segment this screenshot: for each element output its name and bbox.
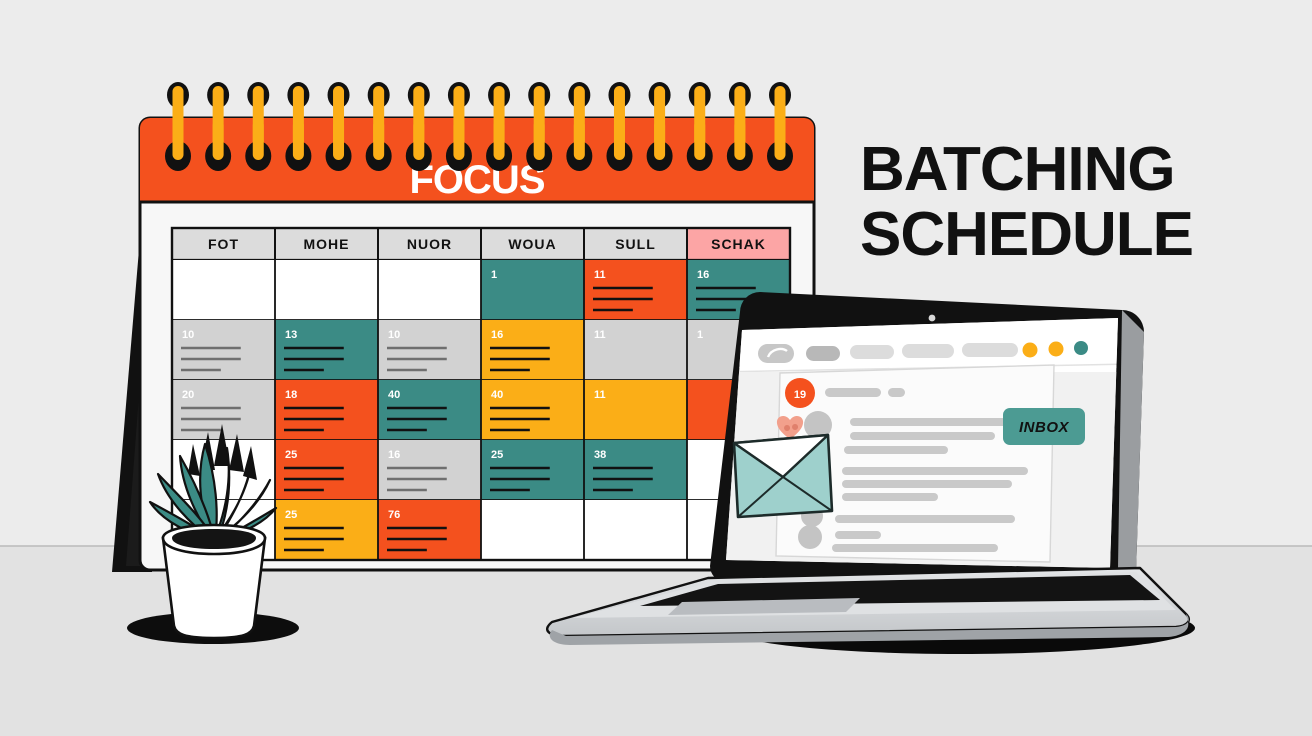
inbox-badge-label: INBOX [1019,419,1070,436]
headline-line-1: BATCHING [860,135,1175,204]
calendar-day-number: 40 [491,389,503,401]
day-header-label: FOT [208,236,239,252]
spiral-ring-wire-lower [413,120,424,160]
desk-calendar: FOCUS FOTMOHENUORWOUASULLSCHAK1111610131… [112,82,814,572]
calendar-day-number: 11 [594,389,606,401]
calendar-day-number: 10 [388,329,400,341]
calendar-day-number: 25 [285,449,297,461]
calendar-day-number: 11 [594,329,606,341]
day-header-label: WOUA [508,236,556,252]
toolbar-pill-2[interactable] [850,345,894,359]
calendar-day-number: 13 [285,329,297,341]
spiral-ring-wire-lower [614,120,625,160]
spiral-ring-wire-lower [694,120,705,160]
calendar-day-number: 16 [388,449,400,461]
spiral-ring-wire-lower [534,120,545,160]
calendar-day-number: 25 [491,449,503,461]
scene-svg: BATCHING SCHEDULE FOCUS FOTMOHENUORWOUAS… [0,0,1312,736]
envelope-icon [734,435,832,517]
headline-line-2: SCHEDULE [860,200,1193,269]
calendar-day-number: 40 [388,389,400,401]
notification-badge-label: 19 [794,389,806,401]
spiral-ring-wire-lower [293,120,304,160]
calendar-day-number: 76 [388,509,400,521]
avatar [798,525,822,549]
dot-amber-2[interactable] [1049,342,1064,357]
spiral-ring-wire-lower [775,120,786,160]
plant-soil [172,529,256,549]
spiral-ring-wire-lower [333,120,344,160]
toolbar-pill-3[interactable] [902,344,954,358]
subject-line [825,388,881,397]
toolbar-pill-1[interactable] [806,346,840,361]
calendar-day-cell[interactable] [378,260,481,320]
spiral-ring-wire-lower [173,120,184,160]
toolbar-pill-4[interactable] [962,343,1018,357]
spiral-ring-wire-lower [734,120,745,160]
calendar-day-cell[interactable] [172,260,275,320]
spiral-ring-wire-lower [574,120,585,160]
back-arrow-icon[interactable] [758,344,794,363]
spiral-ring-wire-lower [213,120,224,160]
dot-amber-1[interactable] [1023,343,1038,358]
spiral-ring-wire-lower [494,120,505,160]
calendar-grid: FOTMOHENUORWOUASULLSCHAK1111610131016111… [172,228,790,560]
calendar-day-cell[interactable] [481,500,584,560]
spiral-ring-wire-lower [654,120,665,160]
day-header-label: MOHE [304,236,350,252]
calendar-day-number: 25 [285,509,297,521]
calendar-day-cell[interactable] [275,260,378,320]
spiral-ring-wire-lower [373,120,384,160]
calendar-day-number: 1 [697,329,703,341]
webcam-icon [929,315,936,322]
calendar-day-cell[interactable] [584,500,687,560]
subject-tag [888,388,905,397]
headline: BATCHING SCHEDULE [860,135,1193,269]
calendar-banner-label: FOCUS [410,158,545,202]
calendar-day-number: 18 [285,389,297,401]
spiral-ring-wire-lower [453,120,464,160]
spiral-ring-wire-lower [253,120,264,160]
day-header-label: SULL [615,236,656,252]
notification-badge[interactable]: 19 [785,378,815,408]
calendar-day-number: 16 [491,329,503,341]
calendar-day-number: 16 [697,269,709,281]
illustration-canvas: BATCHING SCHEDULE FOCUS FOTMOHENUORWOUAS… [0,0,1312,736]
calendar-day-number: 11 [594,269,606,281]
calendar-day-number: 20 [182,389,194,401]
calendar-day-number: 1 [491,269,497,281]
day-header-label: NUOR [407,236,452,252]
inbox-badge[interactable]: INBOX [1003,408,1085,445]
dot-teal[interactable] [1074,341,1088,355]
calendar-day-number: 38 [594,449,606,461]
day-header-label: SCHAK [711,236,766,252]
calendar-day-number: 10 [182,329,194,341]
